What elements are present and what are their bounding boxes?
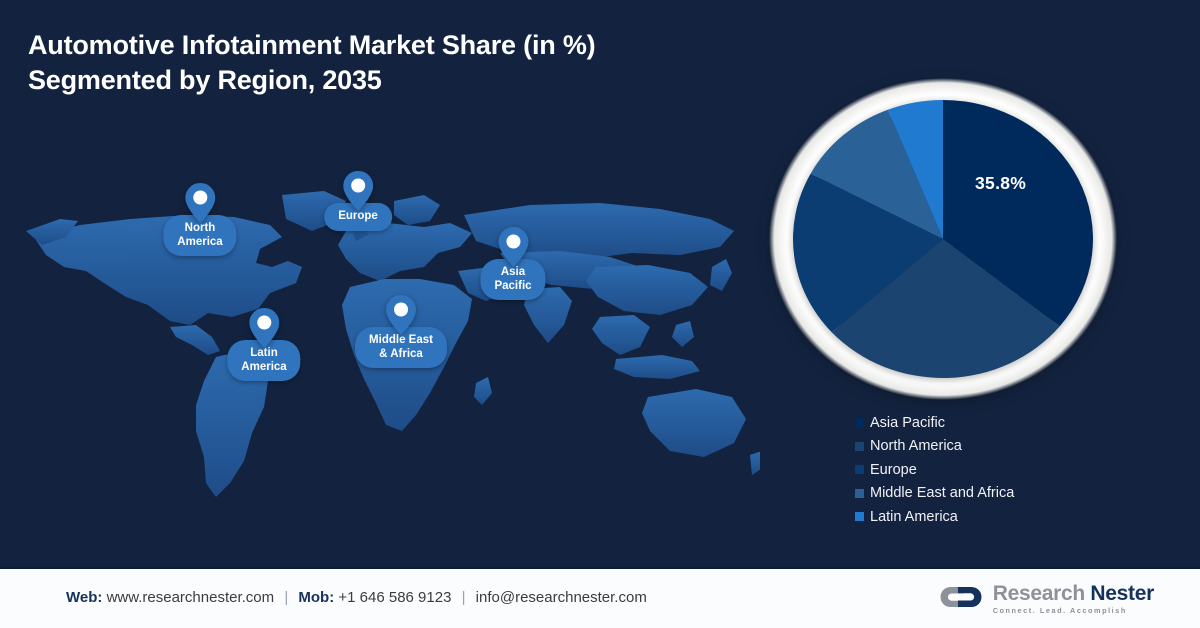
legend-swatch-icon: [855, 442, 864, 451]
pie-slices[interactable]: [793, 100, 1093, 378]
map-marker-icon: [185, 183, 215, 223]
footer-web-value[interactable]: www.researchnester.com: [107, 589, 275, 606]
legend-label: North America: [870, 438, 962, 454]
legend-item-middle-east-africa[interactable]: Middle East and Africa: [855, 482, 1125, 506]
footer-mob-label: Mob:: [298, 589, 334, 606]
legend-swatch-icon: [855, 489, 864, 498]
footer-separator: |: [462, 589, 466, 606]
footer-bar: Web: www.researchnester.com | Mob: +1 64…: [0, 567, 1200, 628]
page-title: Automotive Infotainment Market Share (in…: [28, 28, 728, 98]
map-marker-icon: [498, 227, 528, 267]
infographic-canvas: Automotive Infotainment Market Share (in…: [0, 0, 1200, 628]
page-title-line-1: Automotive Infotainment Market Share (in…: [28, 28, 728, 63]
pie-chart-panel: 35.8% Asia Pacific North America Europe …: [760, 78, 1130, 548]
legend-label: Latin America: [870, 509, 958, 525]
logo-word-research: Research: [993, 582, 1085, 605]
legend-item-asia-pacific[interactable]: Asia Pacific: [855, 411, 1125, 435]
map-marker-icon: [249, 308, 279, 348]
pie-slice-value-label: 35.8%: [975, 173, 1026, 194]
legend-item-europe[interactable]: Europe: [855, 458, 1125, 482]
legend-label: Asia Pacific: [870, 415, 945, 431]
footer-email-value[interactable]: info@researchnester.com: [476, 589, 647, 606]
map-marker-icon: [343, 171, 373, 211]
legend-item-north-america[interactable]: North America: [855, 435, 1125, 459]
footer-separator: |: [284, 589, 288, 606]
chain-link-logo-icon: [938, 584, 984, 615]
world-map-panel: North America Europe Asia Pacific: [20, 175, 760, 505]
logo-tagline: Connect. Lead. Accomplish: [993, 606, 1154, 616]
logo-wordmark: Research Nester: [993, 583, 1154, 605]
footer-contact-info: Web: www.researchnester.com | Mob: +1 64…: [66, 589, 647, 606]
legend-label: Middle East and Africa: [870, 485, 1014, 501]
chart-legend: Asia Pacific North America Europe Middle…: [855, 411, 1125, 529]
pie-chart[interactable]: 35.8%: [769, 78, 1117, 400]
footer-web-label: Web:: [66, 589, 102, 606]
legend-item-latin-america[interactable]: Latin America: [855, 505, 1125, 529]
map-marker-icon: [386, 295, 416, 335]
map-pin-north-america[interactable]: North America: [163, 183, 236, 256]
map-pin-europe[interactable]: Europe: [324, 171, 392, 231]
footer-mob-value: +1 646 586 9123: [338, 589, 451, 606]
page-title-line-2: Segmented by Region, 2035: [28, 63, 728, 98]
logo-word-nester: Nester: [1090, 582, 1154, 605]
legend-swatch-icon: [855, 512, 864, 521]
legend-swatch-icon: [855, 418, 864, 427]
legend-label: Europe: [870, 462, 917, 478]
legend-swatch-icon: [855, 465, 864, 474]
map-pin-asia-pacific[interactable]: Asia Pacific: [480, 227, 545, 300]
research-nester-logo[interactable]: Research Nester Connect. Lead. Accomplis…: [938, 578, 1154, 620]
map-pin-middle-east-africa[interactable]: Middle East & Africa: [355, 295, 447, 368]
logo-text-block: Research Nester Connect. Lead. Accomplis…: [993, 583, 1154, 616]
map-pin-latin-america[interactable]: Latin America: [227, 308, 300, 381]
